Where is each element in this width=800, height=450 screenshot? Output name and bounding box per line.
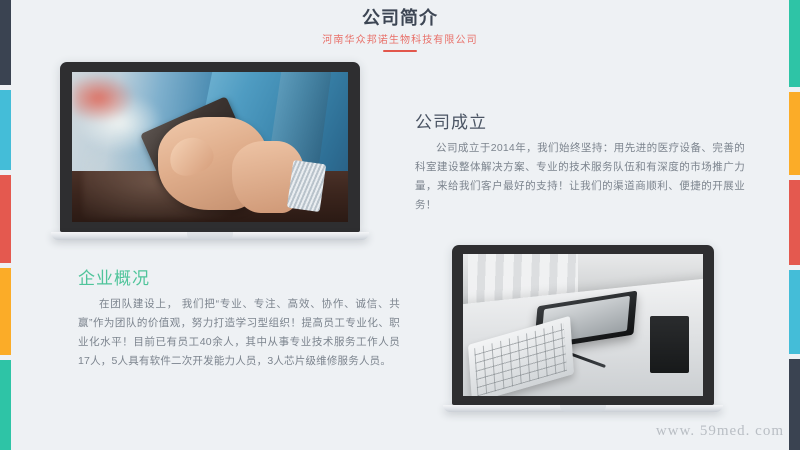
edge-bar-left-teal	[0, 360, 11, 450]
laptop-mockup-bottom	[452, 245, 714, 412]
page-title: 公司简介	[0, 6, 800, 30]
laptop-notch-top	[187, 232, 233, 240]
slide-header: 公司简介 河南华众邦诺生物科技有限公司	[0, 6, 800, 48]
slide-canvas: 公司简介 河南华众邦诺生物科技有限公司	[0, 0, 800, 450]
section-overview-heading: 企业概况	[78, 264, 400, 289]
laptop-lid-bottom	[452, 245, 714, 405]
edge-bar-left-orange	[0, 268, 11, 355]
edge-bar-left-cyan	[0, 90, 11, 170]
photo-hand-holding-phone	[72, 72, 348, 222]
laptop-notch-bottom	[560, 405, 606, 412]
site-watermark: www. 59med. com	[656, 423, 784, 440]
edge-bar-left-red	[0, 175, 11, 263]
company-name-subtitle: 河南华众邦诺生物科技有限公司	[322, 34, 477, 48]
edge-bar-right-cyan	[789, 270, 800, 354]
section-founding-body: 公司成立于2014年，我们始终坚持：用先进的医疗设备、完善的科室建设整体解决方案…	[415, 139, 745, 215]
section-overview-body: 在团队建设上， 我们把“专业、专注、高效、协作、诚信、共赢”作为团队的价值观，努…	[78, 295, 400, 371]
laptop-screen-top	[72, 72, 348, 222]
section-founding: 公司成立 公司成立于2014年，我们始终坚持：用先进的医疗设备、完善的科室建设整…	[415, 108, 745, 215]
section-overview: 企业概况 在团队建设上， 我们把“专业、专注、高效、协作、诚信、共赢”作为团队的…	[78, 264, 400, 371]
edge-bar-right-navy	[789, 359, 800, 450]
laptop-screen-bottom	[463, 254, 703, 396]
laptop-lid-top	[60, 62, 360, 232]
section-founding-heading: 公司成立	[415, 108, 745, 133]
edge-bar-right-red	[789, 180, 800, 265]
laptop-mockup-top	[60, 62, 360, 240]
laptop-base-bottom	[443, 405, 723, 412]
title-underline-rule	[383, 50, 417, 52]
subtitle-wrap: 河南华众邦诺生物科技有限公司	[322, 34, 477, 48]
photo-desk-keyboard-tablet	[463, 254, 703, 396]
laptop-base-top	[51, 232, 369, 240]
edge-bar-right-orange	[789, 92, 800, 175]
